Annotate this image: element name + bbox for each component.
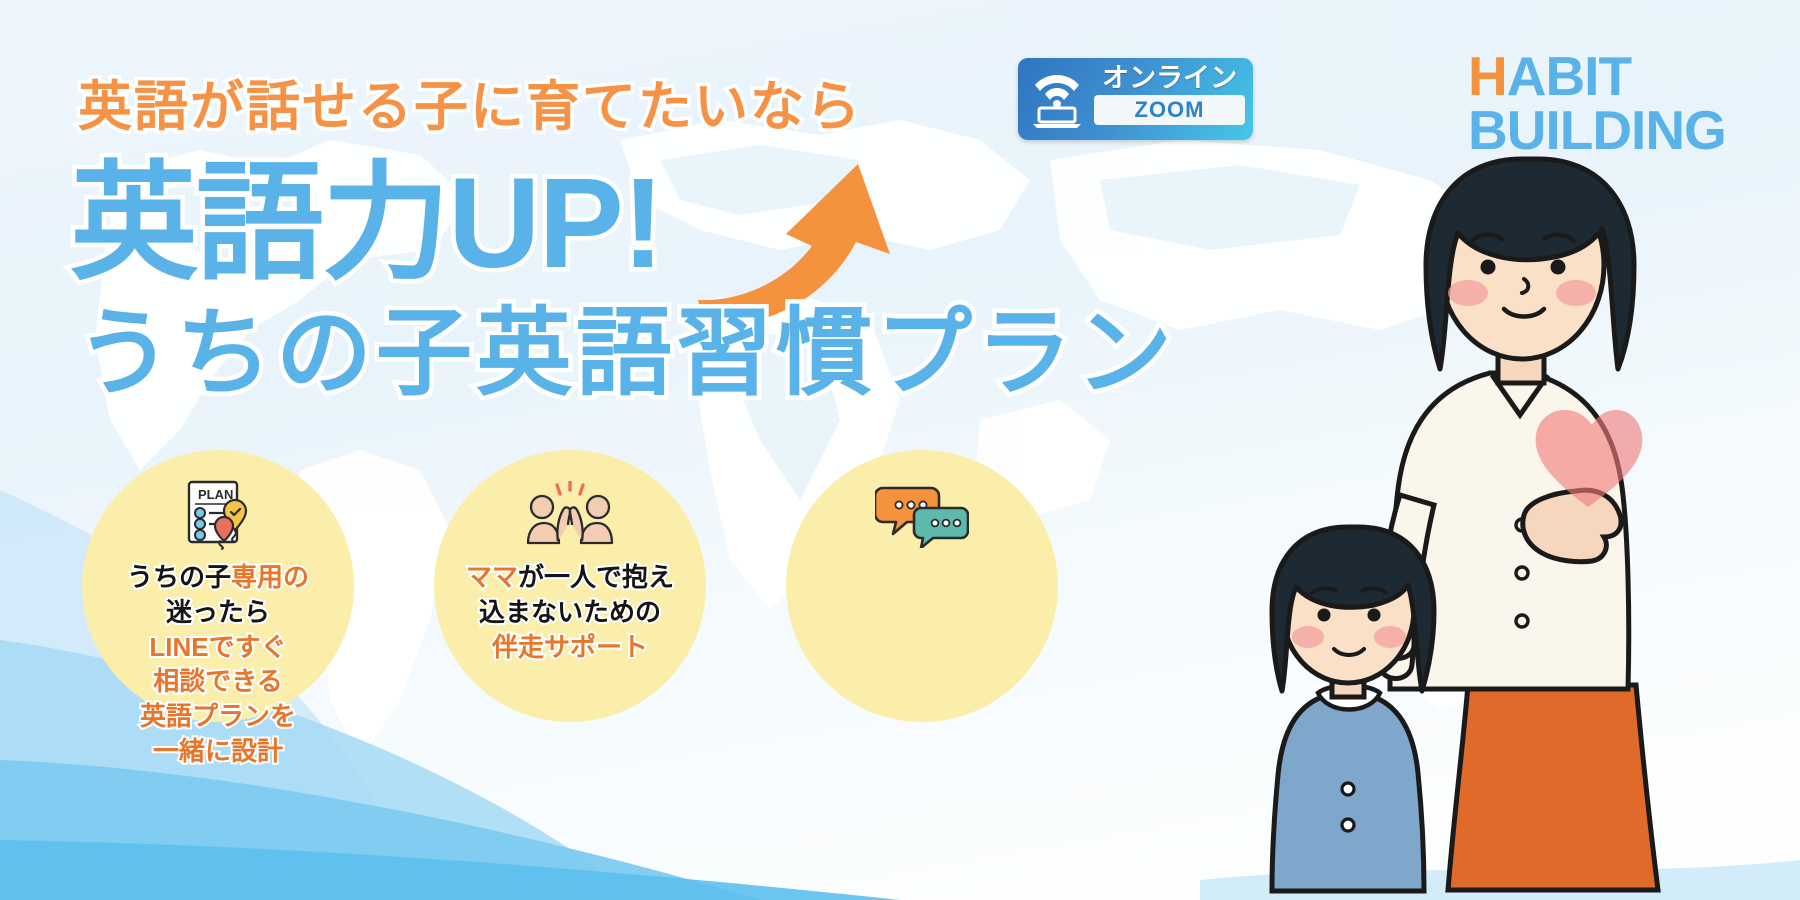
high-five-icon (524, 480, 616, 550)
feature-text-support: ママが一人で抱え込まないための伴走サポート (466, 560, 674, 664)
feature-text-segment: 英語プランを (140, 701, 296, 731)
mother-and-daughter-illustration (1240, 125, 1800, 900)
main-headline-line-2: うちの子英語習慣プラン (76, 306, 1176, 402)
brand-accent-letter: H (1468, 45, 1507, 107)
feature-text-line: LINEですぐ (127, 630, 309, 665)
brand-line-1-rest: ABIT (1507, 45, 1631, 107)
feature-text-line: うちの子専用の迷ったらLINEですぐ相談できる (127, 560, 309, 699)
chat-bubbles-icon (875, 480, 969, 550)
promotional-banner: 英語が話せる子に育てたいなら 英語力UP! うちの子英語習慣プラン オンライン … (0, 0, 1800, 900)
zoom-label: ZOOM (1094, 95, 1245, 125)
feature-circle-line[interactable] (786, 450, 1058, 722)
feature-text-plan: うちの子専用の迷ったらLINEですぐ相談できる英語プランを一緒に設計 (127, 560, 309, 769)
feature-circle-plan[interactable]: PLAN うちの子専用の迷ったらLINEですぐ相談できる英語プランを一緒に設計 (82, 450, 354, 722)
feature-text-segment: ママ (466, 562, 518, 592)
main-headline-line-1: 英語力UP! (70, 160, 662, 288)
sub-headline: 英語が話せる子に育てたいなら (78, 62, 862, 141)
daughter-figure (1272, 527, 1434, 891)
online-label: オンライン (1094, 64, 1245, 92)
feature-text-line: 迷ったら (127, 595, 309, 630)
feature-text-segment: LINEですぐ (149, 632, 286, 662)
feature-text-segment: 相談できる (153, 666, 282, 696)
feature-text-segment: 迷ったら (166, 597, 270, 627)
laptop-wifi-icon (1026, 64, 1088, 134)
brand-line-1: HABIT (1468, 50, 1726, 104)
feature-text-line: 一緒に設計 (127, 734, 309, 769)
feature-text-segment: 伴走サポート (492, 632, 648, 662)
feature-circle-support[interactable]: ママが一人で抱え込まないための伴走サポート (434, 450, 706, 722)
feature-text-segment: 専用の (231, 562, 309, 592)
feature-text-line: 伴走サポート (466, 630, 674, 665)
feature-text-segment: うちの子 (127, 562, 231, 592)
plan-checklist-icon: PLAN (176, 480, 260, 550)
mother-figure (1380, 159, 1658, 890)
feature-text-segment: 込まないための (479, 597, 661, 627)
feature-text-segment: が一人で抱え (518, 562, 674, 592)
feature-text-line: 英語プランを (127, 699, 309, 734)
feature-text-segment: 一緒に設計 (153, 736, 283, 766)
svg-text:PLAN: PLAN (198, 487, 233, 502)
feature-text-line: ママが一人で抱え (466, 560, 674, 595)
feature-text-line: 相談できる (127, 664, 309, 699)
feature-text-line: 込まないための (466, 595, 674, 630)
online-zoom-badge: オンライン ZOOM (1018, 58, 1253, 140)
